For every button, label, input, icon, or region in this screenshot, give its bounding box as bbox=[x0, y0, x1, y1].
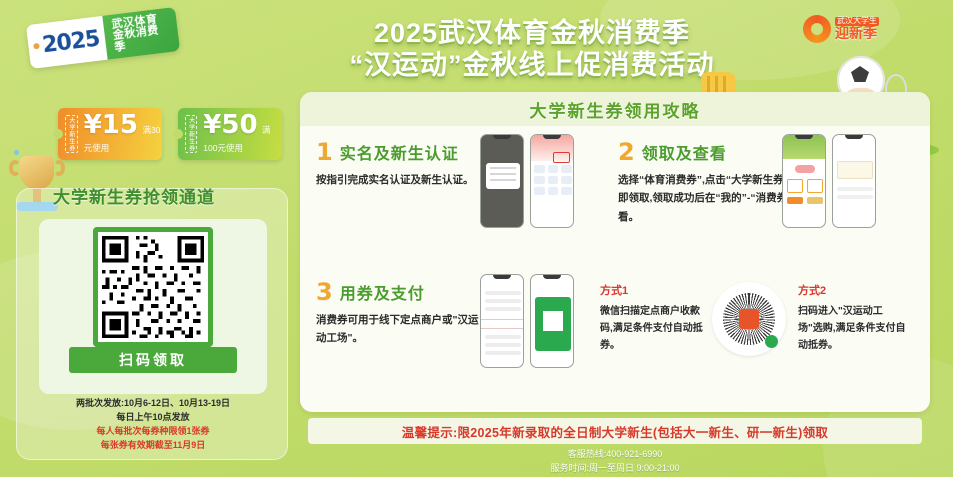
step-3: 3 用券及支付 消费券可用于线下定点商户或"汉运动工场"。 bbox=[316, 280, 486, 348]
claim-button-mock bbox=[807, 197, 823, 204]
swirl-icon bbox=[803, 15, 831, 43]
tag-hole-icon bbox=[33, 43, 40, 50]
trophy-cup bbox=[20, 156, 54, 190]
app-icon-grid bbox=[534, 165, 572, 195]
welcome-season-logo: 武汉大学生 迎新季 bbox=[803, 12, 899, 46]
list-row bbox=[485, 351, 521, 355]
claim-note-4: 每张券有效期截至11月9日 bbox=[17, 439, 289, 453]
banner-pill bbox=[795, 165, 815, 173]
wechat-badge-icon bbox=[765, 335, 778, 348]
service-hours-text: 服务时间:周一至周日 9:00-21:00 bbox=[308, 462, 922, 476]
step-3-description: 消费券可用于线下定点商户或"汉运动工场"。 bbox=[316, 311, 486, 348]
guide-panel-title: 大学新生券领用攻略 bbox=[530, 97, 701, 122]
coupon-amount-area: ¥50 满100元使用 bbox=[203, 112, 282, 156]
tag-label-area: 武汉体育 金秋消费季 bbox=[103, 7, 181, 60]
coupon-group: 大学新生券 ¥15 满30元使用 大学新生券 ¥50 满100元使用 bbox=[58, 108, 282, 160]
eligibility-notice: 温馨提示:限2025年新录取的全日制大学新生(包括大一新生、研一新生)领取 bbox=[308, 418, 922, 444]
step-2-header: 2 领取及查看 bbox=[618, 140, 804, 164]
coupon-15: 大学新生券 ¥15 满30元使用 bbox=[58, 108, 162, 160]
scan-to-claim-label[interactable]: 扫码领取 bbox=[69, 347, 237, 373]
hotline-text: 客服热线:400-921-6990 bbox=[308, 448, 922, 462]
list-row bbox=[485, 307, 521, 311]
logo-main-text: 迎新季 bbox=[835, 26, 879, 41]
phone-mockup-app-home bbox=[530, 134, 574, 228]
coupon-stub: 大学新生券 bbox=[185, 115, 197, 153]
step-3-screenshots bbox=[480, 274, 574, 368]
phone-notch bbox=[493, 135, 511, 139]
claim-note-2: 每日上午10点发放 bbox=[17, 411, 289, 425]
dialog-box bbox=[486, 163, 520, 189]
logo-text-area: 武汉大学生 迎新季 bbox=[835, 17, 879, 40]
step-2-number: 2 bbox=[618, 140, 635, 164]
coupon-value: ¥15 bbox=[84, 110, 138, 140]
tag-year-text: 2025 bbox=[41, 26, 101, 58]
method-2: 方式2 扫码进入"汉运动工场"选购,满足条件支付自动抵券。 bbox=[798, 282, 906, 354]
step-1-number: 1 bbox=[316, 140, 333, 164]
step-1-screenshots bbox=[480, 134, 574, 228]
event-year-tag: 2025 武汉体育 金秋消费季 bbox=[26, 7, 180, 69]
claim-note-1: 两批次发放:10月6-12日、10月13-19日 bbox=[17, 397, 289, 411]
step-2-description: 选择“体育消费券”,点击“大学新生券”立即领取,领取成功后在“我的”-“消费券”… bbox=[618, 171, 804, 226]
miniprogram-qr-code[interactable] bbox=[712, 282, 786, 356]
claim-qr-code[interactable] bbox=[93, 227, 213, 347]
step-3-number: 3 bbox=[316, 280, 333, 304]
payment-qr-icon bbox=[543, 311, 563, 331]
callout-bar bbox=[480, 319, 524, 329]
method-1: 方式1 微信扫描定点商户收款码,满足条件支付自动抵券。 bbox=[600, 282, 708, 354]
coupon-value: ¥50 bbox=[203, 110, 257, 140]
coupon-tile bbox=[807, 179, 823, 193]
claim-note-3: 每人每批次每券种限领1张券 bbox=[17, 425, 289, 439]
step-3-header: 3 用券及支付 bbox=[316, 280, 486, 304]
trophy-handle-right bbox=[53, 160, 65, 176]
phone-notch bbox=[845, 135, 863, 139]
coupon-notch-icon bbox=[173, 129, 183, 139]
headline-line-1: 2025武汉体育金秋消费季 bbox=[282, 18, 782, 50]
wechat-pay-panel bbox=[535, 297, 571, 351]
qr-card: 扫码领取 bbox=[39, 219, 267, 394]
phone-mockup-merchant-list bbox=[480, 274, 524, 368]
coupon-stub: 大学新生券 bbox=[65, 115, 78, 153]
highlight-box bbox=[553, 152, 570, 163]
coupon-stub-text: 大学新生券 bbox=[67, 117, 76, 152]
qr-center-logo-icon bbox=[739, 309, 759, 329]
list-row bbox=[485, 291, 521, 295]
list-row bbox=[837, 187, 873, 191]
step-2-screenshots bbox=[782, 134, 876, 228]
step-2-title: 领取及查看 bbox=[642, 140, 727, 164]
tag-year-area: 2025 bbox=[26, 16, 108, 69]
claim-button-mock bbox=[787, 197, 803, 204]
step-2: 2 领取及查看 选择“体育消费券”,点击“大学新生券”立即领取,领取成功后在“我… bbox=[618, 140, 804, 226]
step-3-title: 用券及支付 bbox=[340, 280, 425, 304]
method-1-description: 微信扫描定点商户收款码,满足条件支付自动抵券。 bbox=[600, 303, 708, 354]
eligibility-notice-text: 温馨提示:限2025年新录取的全日制大学新生(包括大一新生、研一新生)领取 bbox=[402, 422, 828, 441]
claim-notes: 两批次发放:10月6-12日、10月13-19日 每日上午10点发放 每人每批次… bbox=[17, 397, 289, 453]
list-row bbox=[485, 343, 521, 347]
step-1-header: 1 实名及新生认证 bbox=[316, 140, 486, 164]
phone-notch bbox=[795, 135, 813, 139]
promo-poster: 2025 武汉体育 金秋消费季 大学新生券 ¥15 满30元使用 大学新生券 ¥… bbox=[0, 0, 953, 477]
step-1-description: 按指引完成实名认证及新生认证。 bbox=[316, 171, 486, 189]
phone-notch bbox=[543, 275, 561, 279]
step-1: 1 实名及新生认证 按指引完成实名认证及新生认证。 bbox=[316, 140, 486, 189]
contact-info: 客服热线:400-921-6990 服务时间:周一至周日 9:00-21:00 bbox=[308, 448, 922, 475]
method-1-label: 方式1 bbox=[600, 282, 708, 298]
tag-line2: 金秋消费季 bbox=[112, 24, 171, 54]
phone-mockup-wechat-pay bbox=[530, 274, 574, 368]
claim-channel-panel: 大学新生券抢领通道 bbox=[16, 188, 288, 460]
phone-mockup-coupon-list bbox=[782, 134, 826, 228]
coupon-tile bbox=[787, 179, 803, 193]
coupon-50: 大学新生券 ¥50 满100元使用 bbox=[178, 108, 282, 160]
method-2-label: 方式2 bbox=[798, 282, 906, 298]
method-2-description: 扫码进入"汉运动工场"选购,满足条件支付自动抵券。 bbox=[798, 303, 906, 354]
phone-notch bbox=[543, 135, 561, 139]
phone-mockup-verify bbox=[480, 134, 524, 228]
list-row bbox=[837, 195, 873, 199]
sparkle-icon bbox=[14, 150, 19, 155]
coupon-stub-text: 大学新生券 bbox=[187, 117, 196, 152]
guide-panel: 大学新生券领用攻略 1 实名及新生认证 按指引完成实名认证及新生认证。 bbox=[300, 92, 930, 412]
channel-title: 大学新生券抢领通道 bbox=[53, 183, 215, 208]
coupon-amount-area: ¥15 满30元使用 bbox=[84, 112, 162, 156]
coupon-notch-icon bbox=[53, 129, 63, 139]
list-row bbox=[485, 335, 521, 339]
step-1-title: 实名及新生认证 bbox=[340, 140, 459, 164]
phone-notch bbox=[493, 275, 511, 279]
guide-panel-header: 大学新生券领用攻略 bbox=[300, 92, 930, 126]
coupon-card-mock bbox=[837, 161, 873, 179]
phone-mockup-my-coupons bbox=[832, 134, 876, 228]
list-row bbox=[485, 299, 521, 303]
